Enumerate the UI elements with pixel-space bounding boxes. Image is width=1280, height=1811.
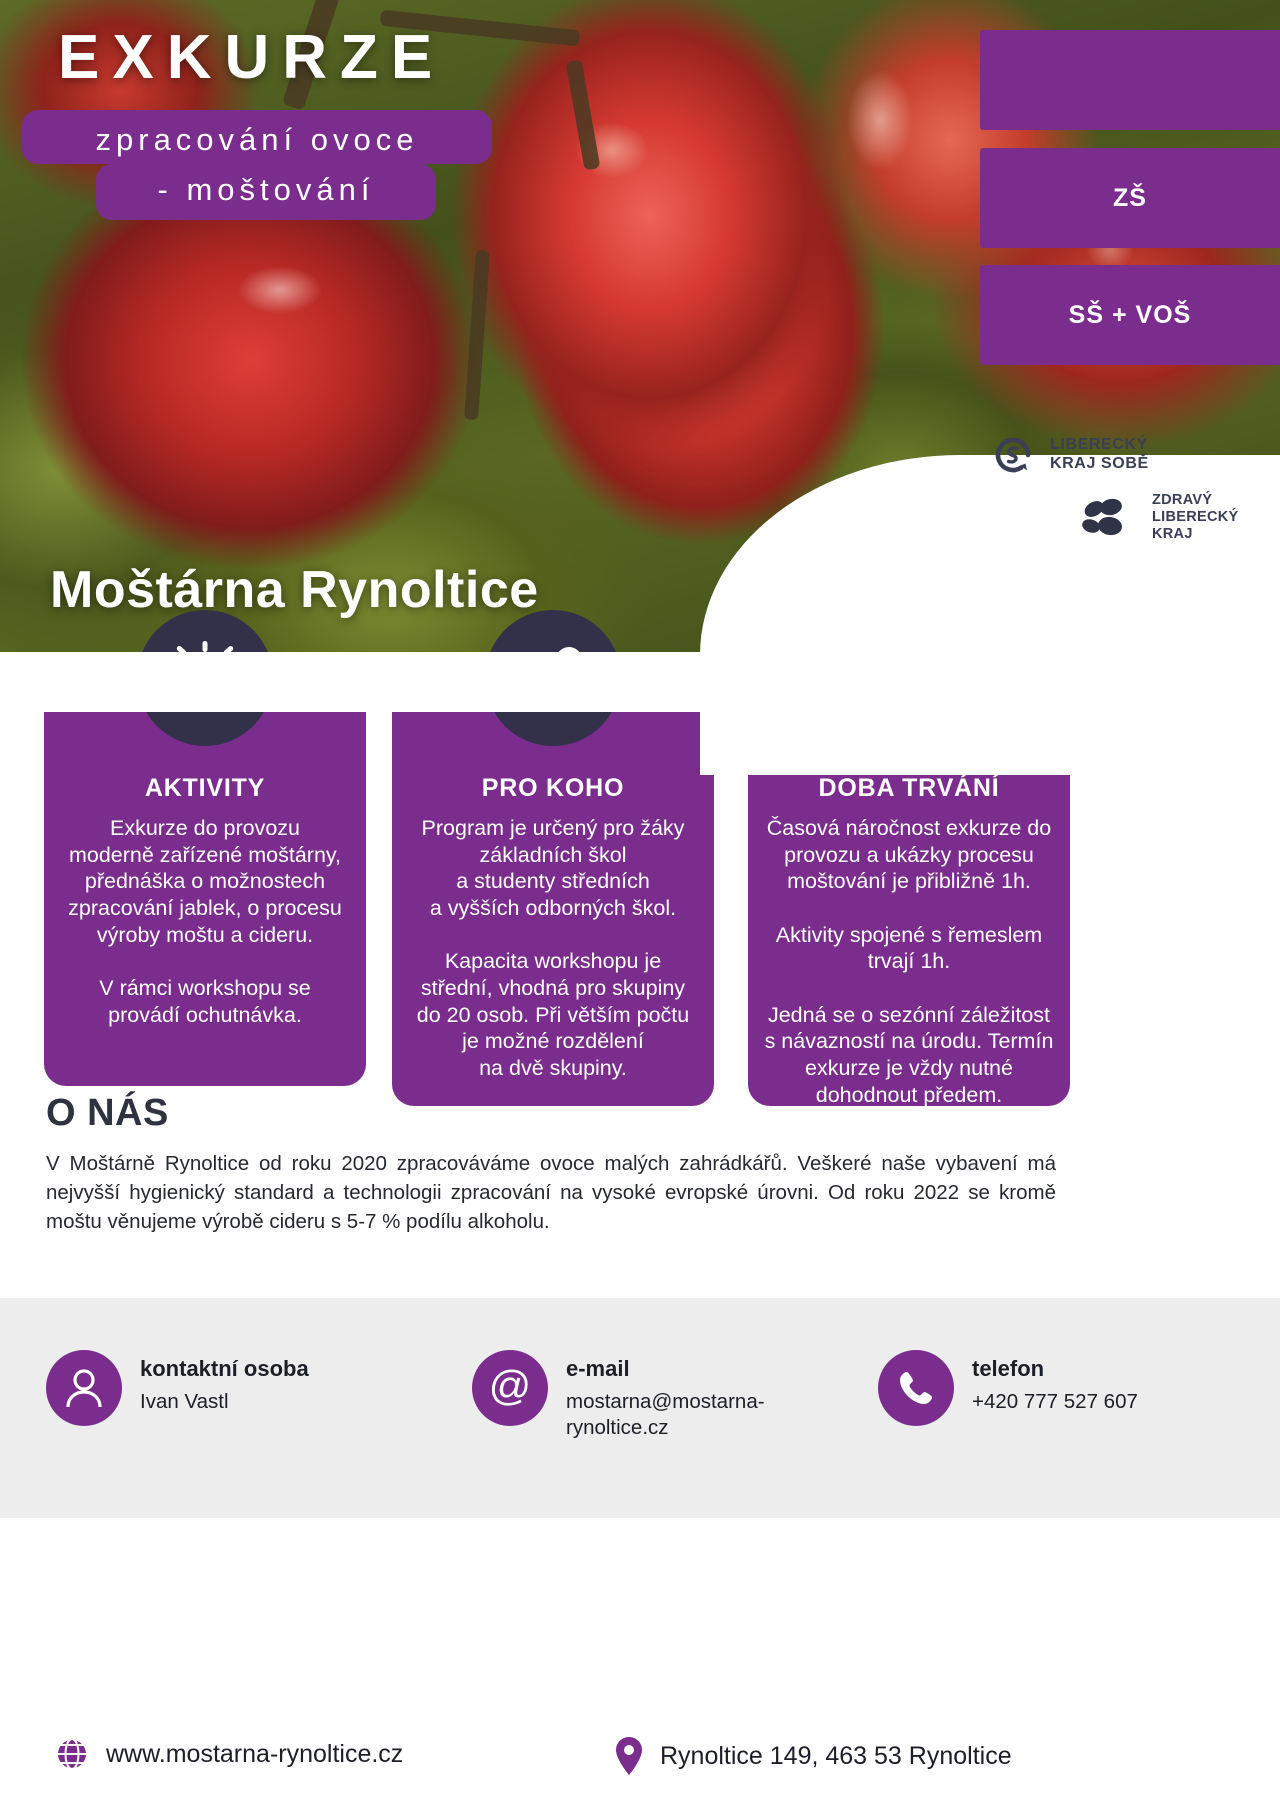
card-title: DOBA TRVÁNÍ bbox=[764, 774, 1054, 803]
subtitle-line-1: zpracování ovoce bbox=[22, 120, 492, 160]
card-title: PRO KOHO bbox=[408, 774, 698, 803]
card-aktivity: AKTIVITY Exkurze do provozu moderně zaří… bbox=[44, 678, 366, 1086]
logo-text-block: ZDRAVÝ LIBERECKÝ KRAJ bbox=[1152, 492, 1239, 543]
white-bottom-strip bbox=[0, 652, 1280, 712]
address-text: Rynoltice 149, 463 53 Rynoltice bbox=[660, 1742, 1012, 1771]
poster-title: EXKURZE bbox=[58, 22, 445, 93]
contact-value: Ivan Vastl bbox=[140, 1389, 309, 1415]
about-title: O NÁS bbox=[46, 1092, 1056, 1135]
card-pro-koho: PRO KOHO Program je určený pro žáky zákl… bbox=[392, 678, 714, 1106]
contact-person: kontaktní osoba Ivan Vastl bbox=[46, 1350, 309, 1426]
website-row[interactable]: www.mostarna-rynoltice.cz bbox=[54, 1736, 403, 1772]
contact-phone: telefon +420 777 527 607 bbox=[878, 1350, 1138, 1426]
audience-badge-zs: ZŠ bbox=[980, 148, 1280, 248]
card-body: Program je určený pro žáky základních šk… bbox=[408, 815, 698, 1082]
audience-badge-ss-vos: SŠ + VOŠ bbox=[980, 265, 1280, 365]
about-section: O NÁS V Moštárně Rynoltice od roku 2020 … bbox=[46, 1092, 1056, 1236]
logo-text-block: LIBERECKÝ KRAJ SOBĚ bbox=[1050, 436, 1149, 474]
contact-label: telefon bbox=[972, 1356, 1138, 1382]
contact-email: @ e-mail mostarna@mostarna-rynoltice.cz bbox=[472, 1350, 836, 1441]
website-url[interactable]: www.mostarna-rynoltice.cz bbox=[106, 1740, 403, 1769]
liberecky-kraj-sobe-icon bbox=[990, 432, 1036, 478]
poster-root: EXKURZE zpracování ovoce - moštování ZŠ … bbox=[0, 0, 1280, 1811]
logo-line-1: ZDRAVÝ bbox=[1152, 492, 1239, 509]
company-name: Moštárna Rynoltice bbox=[50, 560, 539, 620]
subtitle-band-line2: - moštování bbox=[96, 164, 436, 220]
contact-label: e-mail bbox=[566, 1356, 836, 1382]
at-icon: @ bbox=[472, 1350, 548, 1426]
contact-value[interactable]: +420 777 527 607 bbox=[972, 1389, 1138, 1415]
logo-line-2: LIBERECKÝ bbox=[1152, 509, 1239, 526]
card-body: Časová náročnost exkurze do provozu a uk… bbox=[764, 815, 1054, 1108]
logo-line-2: KRAJ SOBĚ bbox=[1050, 455, 1149, 474]
address-row: Rynoltice 149, 463 53 Rynoltice bbox=[614, 1736, 1012, 1776]
phone-icon bbox=[878, 1350, 954, 1426]
card-body: Exkurze do provozu moderně zařízené mošt… bbox=[60, 815, 350, 1028]
logo-zdravy-liberecky-kraj: ZDRAVÝ LIBERECKÝ KRAJ bbox=[1078, 492, 1258, 543]
contact-value[interactable]: mostarna@mostarna-rynoltice.cz bbox=[566, 1389, 836, 1441]
subtitle-band-line1: zpracování ovoce bbox=[22, 110, 492, 164]
logo-line-3: KRAJ bbox=[1152, 526, 1239, 543]
partner-logos: LIBERECKÝ KRAJ SOBĚ ZDRAVÝ LIBERECKÝ KRA… bbox=[968, 432, 1258, 557]
globe-icon bbox=[54, 1736, 90, 1772]
audience-badge-empty bbox=[980, 30, 1280, 130]
contact-footer: kontaktní osoba Ivan Vastl @ e-mail most… bbox=[0, 1298, 1280, 1518]
contact-text: kontaktní osoba Ivan Vastl bbox=[140, 1350, 309, 1415]
zdravy-kraj-leaf-icon bbox=[1078, 493, 1138, 543]
contact-text: telefon +420 777 527 607 bbox=[972, 1350, 1138, 1415]
about-body: V Moštárně Rynoltice od roku 2020 zpraco… bbox=[46, 1149, 1056, 1236]
bottom-bar: www.mostarna-rynoltice.cz Rynoltice 149,… bbox=[0, 1518, 1280, 1811]
location-pin-icon bbox=[614, 1736, 644, 1776]
card-title: AKTIVITY bbox=[60, 774, 350, 803]
person-icon bbox=[46, 1350, 122, 1426]
logo-liberecky-kraj-sobe: LIBERECKÝ KRAJ SOBĚ bbox=[990, 432, 1258, 478]
logo-line-1: LIBERECKÝ bbox=[1050, 436, 1149, 455]
contact-label: kontaktní osoba bbox=[140, 1356, 309, 1382]
svg-text:@: @ bbox=[489, 1362, 532, 1409]
contact-text: e-mail mostarna@mostarna-rynoltice.cz bbox=[566, 1350, 836, 1441]
